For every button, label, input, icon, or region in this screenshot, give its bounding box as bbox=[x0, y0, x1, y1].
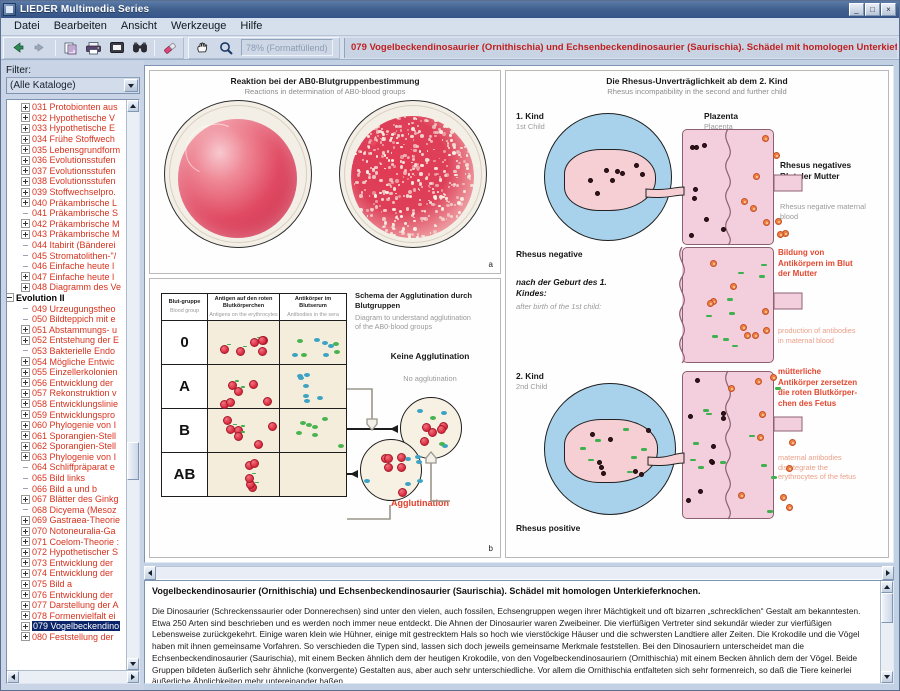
expand-icon[interactable] bbox=[21, 622, 30, 631]
erythrocyte-marker bbox=[250, 459, 259, 468]
maternal-erythrocyte bbox=[728, 385, 735, 392]
antibody-marker bbox=[323, 353, 329, 357]
tree-item-row[interactable]: 044 Itabirit (Bänderei bbox=[7, 240, 126, 251]
tree-item-row[interactable]: 075 Bild a bbox=[7, 579, 126, 590]
plate-canvas: Reaktion bei der AB0-Blutgruppenbestimmu… bbox=[145, 66, 893, 562]
expand-icon[interactable] bbox=[21, 410, 30, 419]
eraser-icon[interactable] bbox=[159, 38, 180, 57]
header-en: Antigens on the erythrocytes bbox=[209, 312, 277, 318]
tree-item-row[interactable]: 055 Einzellerkolonien bbox=[7, 367, 126, 378]
antibody-marker bbox=[364, 479, 370, 483]
tree-item-label: 057 Rekonstruktion v bbox=[32, 388, 117, 398]
leaf-icon bbox=[21, 251, 30, 260]
antigen-spike bbox=[255, 482, 259, 484]
antigen-cell bbox=[208, 453, 280, 496]
fetal-erythrocyte bbox=[692, 196, 697, 201]
toolbar-separator bbox=[55, 40, 56, 56]
tree-item-row[interactable]: 067 Blätter des Ginkg bbox=[7, 494, 126, 505]
application-window: LIEDER Multimedia Series _ □ × Datei Bea… bbox=[0, 0, 900, 691]
expand-icon[interactable] bbox=[21, 548, 30, 557]
expand-icon[interactable] bbox=[21, 283, 30, 292]
fetal-erythrocyte bbox=[610, 178, 615, 183]
forward-arrow-icon[interactable] bbox=[30, 38, 51, 57]
tree-item-row[interactable]: 052 Entstehung der E bbox=[7, 335, 126, 346]
tree-item-label: 075 Bild a bbox=[32, 579, 72, 589]
tree-item-row[interactable]: 050 Bildteppich mit e bbox=[7, 314, 126, 325]
expand-icon[interactable] bbox=[21, 368, 30, 377]
expand-icon[interactable] bbox=[21, 495, 30, 504]
tree-item-row[interactable]: 047 Einfache heute l bbox=[7, 272, 126, 283]
antibody-marker bbox=[296, 431, 302, 435]
tree-item-row[interactable]: 056 Entwicklung der bbox=[7, 377, 126, 388]
expand-icon[interactable] bbox=[21, 336, 30, 345]
maternal-erythrocyte bbox=[710, 260, 717, 267]
leaf-icon bbox=[21, 484, 30, 493]
tree-item-row[interactable]: 054 Mögliche Entwic bbox=[7, 356, 126, 367]
expand-icon[interactable] bbox=[21, 452, 30, 461]
tree-horizontal-scrollbar[interactable] bbox=[7, 670, 139, 683]
filter-label: Filter: bbox=[6, 65, 140, 76]
antibody-marker bbox=[303, 394, 309, 398]
tree-item-label: 073 Entwicklung der bbox=[32, 558, 113, 568]
maternal-antibody bbox=[738, 272, 744, 275]
erythrocyte-marker bbox=[397, 463, 406, 472]
main-column: Reaktion bei der AB0-Blutgruppenbestimmu… bbox=[144, 61, 899, 690]
maternal-antibody bbox=[690, 459, 696, 462]
tree-item-label: 034 Frühe Stoffwech bbox=[32, 134, 115, 144]
image-viewer-pane[interactable]: Reaktion bei der AB0-Blutgruppenbestimmu… bbox=[144, 65, 894, 563]
scroll-track[interactable] bbox=[127, 112, 139, 658]
tree-item-row[interactable]: 032 Hypothetische V bbox=[7, 113, 126, 124]
header-de: Antikörper im Blutserum bbox=[281, 296, 345, 310]
antibody-marker bbox=[338, 444, 344, 448]
tree-item-row[interactable]: 039 Stoffwechselpro. bbox=[7, 187, 126, 198]
scroll-track[interactable] bbox=[881, 593, 893, 671]
antibody-cell bbox=[280, 453, 346, 496]
close-button[interactable]: × bbox=[881, 3, 896, 16]
erythrocyte-marker bbox=[398, 488, 407, 497]
expand-icon[interactable] bbox=[21, 272, 30, 281]
header-antibodies: Antikörper im Blutserum Antibodies in th… bbox=[280, 294, 346, 320]
fetal-erythrocyte bbox=[588, 178, 593, 183]
antigen-spike bbox=[241, 386, 245, 388]
leaf-icon bbox=[21, 304, 30, 313]
maternal-erythrocyte bbox=[775, 218, 782, 225]
maternal-erythrocyte bbox=[763, 327, 770, 334]
menu-bearbeiten[interactable]: Bearbeiten bbox=[47, 19, 114, 34]
expand-icon[interactable] bbox=[21, 590, 30, 599]
maternal-erythrocyte bbox=[707, 300, 714, 307]
expand-icon[interactable] bbox=[21, 378, 30, 387]
agglutination-title-de: Schema der Agglutination durch Blutgrupp… bbox=[355, 291, 475, 311]
tree-vertical-scrollbar[interactable] bbox=[126, 100, 139, 670]
tree-item-row[interactable]: 051 Abstammungs- u bbox=[7, 324, 126, 335]
antibody-marker bbox=[333, 342, 339, 346]
fetal-erythrocyte bbox=[646, 428, 651, 433]
tree-item-label: 065 Bild links bbox=[32, 473, 85, 483]
tree-item-label: 036 Evolutionsstufen bbox=[32, 155, 116, 165]
printer-icon[interactable] bbox=[83, 38, 104, 57]
scroll-thumb[interactable] bbox=[127, 442, 139, 480]
expand-icon[interactable] bbox=[21, 389, 30, 398]
antibody-marker bbox=[416, 460, 422, 464]
scroll-down-button[interactable] bbox=[127, 658, 139, 670]
tree-item-label: 068 Dicyema (Mesoz bbox=[32, 505, 117, 515]
scroll-up-button[interactable] bbox=[127, 100, 139, 112]
title-bar: LIEDER Multimedia Series _ □ × bbox=[1, 1, 899, 18]
tree-item-row[interactable]: 074 Entwicklung der bbox=[7, 568, 126, 579]
toolbar-group-navigation bbox=[3, 37, 184, 59]
chevron-down-icon[interactable] bbox=[124, 79, 138, 92]
tree-item-row[interactable]: 059 Entwicklungspro bbox=[7, 409, 126, 420]
antibody-marker bbox=[430, 416, 436, 420]
tree-item-label: 054 Mögliche Entwic bbox=[32, 357, 115, 367]
tree-item-row[interactable]: 076 Entwicklung der bbox=[7, 589, 126, 600]
figure-letter-a: a bbox=[489, 260, 493, 269]
expand-icon[interactable] bbox=[21, 145, 30, 154]
minimize-button[interactable]: _ bbox=[849, 3, 864, 16]
antibody-marker bbox=[304, 373, 310, 377]
tree-item-row[interactable]: 063 Phylogenie von I bbox=[7, 452, 126, 463]
expand-icon[interactable] bbox=[21, 188, 30, 197]
erythrocyte-marker bbox=[234, 387, 243, 396]
expand-icon[interactable] bbox=[21, 442, 30, 451]
tree-item-label: Evolution II bbox=[16, 293, 65, 303]
magnifier-icon[interactable] bbox=[215, 38, 236, 57]
tree-item-label: 032 Hypothetische V bbox=[32, 113, 115, 123]
sidebar: Filter: (Alle Kataloge) 031 Protobionten… bbox=[1, 61, 144, 690]
tree-group-row[interactable]: Evolution II bbox=[7, 293, 126, 304]
abo-title-en: Reactions in determination of AB0-blood … bbox=[150, 87, 500, 96]
leaf-icon bbox=[21, 315, 30, 324]
petri-dish-agglutination bbox=[339, 100, 487, 248]
tree-item-label: 052 Entstehung der E bbox=[32, 335, 119, 345]
erythrocyte-marker bbox=[249, 380, 258, 389]
erythrocyte-marker bbox=[263, 397, 272, 406]
antibody-marker bbox=[317, 396, 323, 400]
figure-letter-b: b bbox=[489, 544, 493, 553]
header-en: Blood group bbox=[170, 308, 199, 314]
scroll-up-button[interactable] bbox=[881, 581, 893, 593]
tree-item-row[interactable]: 065 Bild links bbox=[7, 473, 126, 484]
no-agglutination-label-de: Keine Agglutination bbox=[382, 351, 478, 362]
tree-item-row[interactable]: 034 Frühe Stoffwech bbox=[7, 134, 126, 145]
table-row: 0 bbox=[162, 321, 346, 365]
tree-item-row[interactable]: 046 Einfache heute l bbox=[7, 261, 126, 272]
maternal-erythrocyte bbox=[763, 219, 770, 226]
antibody-marker bbox=[441, 411, 447, 415]
tree-item-row[interactable]: 061 Sporangien-Stell bbox=[7, 430, 126, 441]
expand-icon[interactable] bbox=[21, 166, 30, 175]
maternal-erythrocyte bbox=[780, 494, 787, 501]
petri-dish-no-agglutination bbox=[164, 100, 312, 248]
tree-item-label: 078 Formenvielfalt ei bbox=[32, 611, 116, 621]
antigen-cell bbox=[208, 321, 280, 364]
tree-item-row[interactable]: 042 Präkambrische M bbox=[7, 219, 126, 230]
maternal-antibody bbox=[771, 476, 777, 479]
tree-item-label: 074 Entwicklung der bbox=[32, 568, 113, 578]
erythrocyte-marker bbox=[223, 416, 232, 425]
tree-item-row[interactable]: 038 Evolutionsstufen bbox=[7, 176, 126, 187]
tree-item-label: 059 Entwicklungspro bbox=[32, 410, 115, 420]
text-scroll-right-button[interactable] bbox=[882, 566, 894, 580]
current-item-title: 079 Vogelbeckendinosaurier (Ornithischia… bbox=[344, 38, 897, 58]
expand-icon[interactable] bbox=[21, 580, 30, 589]
blood-group-label: AB bbox=[174, 466, 196, 483]
app-window-icon bbox=[3, 3, 16, 16]
erythrocyte-marker bbox=[236, 347, 245, 356]
antigen-cell bbox=[208, 409, 280, 452]
antibody-marker bbox=[314, 338, 320, 342]
tree-item-row[interactable]: 037 Evolutionsstufen bbox=[7, 166, 126, 177]
erythrocyte-marker bbox=[220, 345, 229, 354]
fetal-erythrocyte bbox=[690, 145, 695, 150]
tree-item-row[interactable]: 077 Darstellung der A bbox=[7, 600, 126, 611]
tree-item-row[interactable]: 045 Stromatolithen-"/ bbox=[7, 250, 126, 261]
menu-werkzeuge[interactable]: Werkzeuge bbox=[164, 19, 233, 34]
tree-item-row[interactable]: 073 Entwicklung der bbox=[7, 558, 126, 569]
tree-item-label: 053 Bakterielle Endo bbox=[32, 346, 115, 356]
maternal-antibody bbox=[693, 442, 699, 445]
tree-item-row[interactable]: 057 Rekonstruktion v bbox=[7, 388, 126, 399]
fetal-erythrocyte bbox=[595, 191, 600, 196]
fetal-erythrocyte bbox=[702, 143, 707, 148]
expand-icon[interactable] bbox=[21, 516, 30, 525]
maternal-erythrocyte bbox=[741, 198, 748, 205]
erythrocyte-marker bbox=[234, 432, 243, 441]
tree-item-label: 076 Entwicklung der bbox=[32, 590, 113, 600]
antibody-marker bbox=[301, 353, 307, 357]
menu-bar: Datei Bearbeiten Ansicht Werkzeuge Hilfe bbox=[1, 18, 899, 36]
maternal-antibody bbox=[759, 275, 765, 278]
antibody-marker bbox=[417, 479, 423, 483]
tree-item-row[interactable]: 069 Gastraea-Theorie bbox=[7, 515, 126, 526]
abo-title-de: Reaktion bei der AB0-Blutgruppenbestimmu… bbox=[150, 76, 500, 86]
antibody-marker bbox=[322, 417, 328, 421]
tree-item-label: 066 Bild a und b bbox=[32, 484, 97, 494]
maternal-antibody bbox=[703, 409, 709, 412]
antibody-marker bbox=[292, 353, 298, 357]
tree-item-row[interactable]: 071 Coelom-Theorie : bbox=[7, 536, 126, 547]
menu-ansicht[interactable]: Ansicht bbox=[114, 19, 164, 34]
expand-icon[interactable] bbox=[21, 611, 30, 620]
tree-item-row[interactable]: 062 Sporangien-Stell bbox=[7, 441, 126, 452]
scroll-left-button[interactable] bbox=[7, 671, 19, 683]
no-agglutination-label-en: No agglutination bbox=[382, 374, 478, 383]
maternal-erythrocyte bbox=[757, 434, 764, 441]
antigen-cell bbox=[208, 365, 280, 408]
screen-icon[interactable] bbox=[106, 38, 127, 57]
expand-icon[interactable] bbox=[21, 601, 30, 610]
antigen-spike bbox=[252, 473, 256, 475]
blood-group-label: A bbox=[179, 378, 190, 395]
antibody-marker bbox=[405, 457, 411, 461]
expand-icon[interactable] bbox=[21, 431, 30, 440]
fetal-erythrocyte bbox=[695, 378, 700, 383]
erythrocyte-marker bbox=[420, 437, 429, 446]
antibody-marker bbox=[304, 399, 310, 403]
tree-item-row[interactable]: 033 Hypothetische E bbox=[7, 123, 126, 134]
maternal-antibody bbox=[595, 439, 601, 442]
petri-dish-row bbox=[150, 100, 500, 248]
tree-item-row[interactable]: 031 Protobionten aus bbox=[7, 102, 126, 113]
maternal-erythrocyte bbox=[738, 492, 745, 499]
zoom-level-field[interactable]: 78% (Formatfüllend) bbox=[241, 39, 333, 56]
tree-item-label: 079 Vogelbeckendino bbox=[32, 621, 120, 631]
tree-item-row[interactable]: 068 Dicyema (Mesoz bbox=[7, 505, 126, 516]
catalog-filter-dropdown[interactable]: (Alle Kataloge) bbox=[6, 77, 140, 94]
expand-icon[interactable] bbox=[21, 357, 30, 366]
tree-item-label: 050 Bildteppich mit e bbox=[32, 314, 116, 324]
header-de: Antigen auf den roten Blutkörperchen bbox=[209, 296, 278, 310]
tree-item-label: 064 Schliffpräparat e bbox=[32, 462, 115, 472]
antigen-spike bbox=[233, 424, 237, 426]
leaf-icon bbox=[21, 209, 30, 218]
maternal-erythrocyte bbox=[753, 173, 760, 180]
table-row: AB bbox=[162, 453, 346, 496]
tree-item-row[interactable]: 041 Präkambrische S bbox=[7, 208, 126, 219]
tree-item-row[interactable]: 043 Präkambrische M bbox=[7, 229, 126, 240]
binoculars-icon[interactable] bbox=[129, 38, 150, 57]
scroll-right-button[interactable] bbox=[127, 671, 139, 683]
tree-item-row[interactable]: 053 Bakterielle Endo bbox=[7, 346, 126, 357]
tree-item-label: 072 Hypothetischer S bbox=[32, 547, 118, 557]
maternal-antibody bbox=[767, 510, 773, 513]
tree-item-label: 048 Diagramm des Ve bbox=[32, 282, 121, 292]
tree-item-label: 041 Präkambrische S bbox=[32, 208, 118, 218]
expand-icon[interactable] bbox=[21, 527, 30, 536]
figure-abo-reaction: Reaktion bei der AB0-Blutgruppenbestimmu… bbox=[149, 70, 501, 274]
tree-item-row[interactable]: 058 Entwicklungslinie bbox=[7, 399, 126, 410]
tree-item-label: 044 Itabirit (Bänderei bbox=[32, 240, 116, 250]
table-row: B bbox=[162, 409, 346, 453]
catalog-tree[interactable]: 031 Protobionten aus032 Hypothetische V0… bbox=[7, 100, 126, 670]
antibody-marker bbox=[303, 384, 309, 388]
description-vertical-scrollbar[interactable] bbox=[880, 581, 893, 683]
tree-item-row[interactable]: 070 Notoneuralia-Ga bbox=[7, 526, 126, 537]
maternal-antibody bbox=[761, 464, 767, 467]
placenta-middle-edge bbox=[506, 71, 888, 557]
expand-icon[interactable] bbox=[21, 569, 30, 578]
maternal-antibody bbox=[732, 345, 738, 348]
text-scroll-track[interactable] bbox=[156, 566, 882, 580]
catalog-filter-value: (Alle Kataloge) bbox=[10, 80, 76, 91]
collapse-icon[interactable] bbox=[7, 293, 14, 302]
tree-item-row[interactable]: 080 Feststellung der bbox=[7, 632, 126, 643]
tree-item-row[interactable]: 036 Evolutionsstufen bbox=[7, 155, 126, 166]
maternal-erythrocyte bbox=[750, 205, 757, 212]
expand-icon[interactable] bbox=[21, 135, 30, 144]
figure-agglutination-scheme: Blut-gruppe Blood group Antigen auf den … bbox=[149, 278, 501, 558]
maternal-antibody bbox=[588, 459, 594, 462]
antibody-marker bbox=[300, 421, 306, 425]
tree-item-row[interactable]: 060 Phylogenie von I bbox=[7, 420, 126, 431]
window-title: LIEDER Multimedia Series bbox=[20, 4, 149, 15]
toolbar-separator-2 bbox=[154, 40, 155, 56]
expand-icon[interactable] bbox=[21, 177, 30, 186]
menu-datei[interactable]: Datei bbox=[7, 19, 47, 34]
expand-icon[interactable] bbox=[21, 198, 30, 207]
leaf-icon bbox=[21, 474, 30, 483]
maternal-antibody bbox=[580, 447, 586, 450]
tree-item-row[interactable]: 049 Urzeugungstheo bbox=[7, 303, 126, 314]
antibody-marker bbox=[334, 350, 340, 354]
expand-icon[interactable] bbox=[21, 124, 30, 133]
maternal-antibody bbox=[723, 338, 729, 341]
tree-item-row[interactable]: 079 Vogelbeckendino bbox=[7, 621, 126, 632]
maternal-erythrocyte bbox=[786, 465, 793, 472]
expand-icon[interactable] bbox=[21, 421, 30, 430]
expand-icon[interactable] bbox=[21, 399, 30, 408]
back-arrow-icon[interactable] bbox=[7, 38, 28, 57]
agglutination-title-en: Diagram to understand agglutination of t… bbox=[355, 313, 475, 332]
copy-icon[interactable] bbox=[60, 38, 81, 57]
maternal-antibody bbox=[727, 298, 733, 301]
tree-item-label: 063 Phylogenie von I bbox=[32, 452, 116, 462]
tree-item-label: 037 Evolutionsstufen bbox=[32, 166, 116, 176]
tree-item-row[interactable]: 078 Formenvielfalt ei bbox=[7, 611, 126, 622]
expand-icon[interactable] bbox=[21, 325, 30, 334]
tree-item-label: 077 Darstellung der A bbox=[32, 600, 119, 610]
menu-hilfe[interactable]: Hilfe bbox=[233, 19, 269, 34]
erythrocyte-marker bbox=[258, 347, 267, 356]
tree-item-label: 056 Entwicklung der bbox=[32, 378, 113, 388]
tree-item-label: 033 Hypothetische E bbox=[32, 123, 115, 133]
toolbar: 78% (Formatfüllend) 079 Vogelbeckendinos… bbox=[1, 36, 899, 60]
expand-icon[interactable] bbox=[21, 219, 30, 228]
expand-icon[interactable] bbox=[21, 113, 30, 122]
expand-icon[interactable] bbox=[21, 537, 30, 546]
tree-item-label: 047 Einfache heute l bbox=[32, 272, 114, 282]
text-scroll-left-button[interactable] bbox=[144, 566, 156, 580]
expand-icon[interactable] bbox=[21, 632, 30, 641]
antibody-marker bbox=[312, 433, 318, 437]
erythrocyte-marker bbox=[226, 398, 235, 407]
expand-icon[interactable] bbox=[21, 103, 30, 112]
fetal-erythrocyte bbox=[698, 489, 703, 494]
header-en: Antibodies in the sera bbox=[287, 312, 339, 318]
text-pane-scrollbar[interactable] bbox=[144, 566, 894, 580]
scroll-down-button[interactable] bbox=[881, 671, 893, 683]
header-antigens: Antigen auf den roten Blutkörperchen Ant… bbox=[208, 294, 280, 320]
tree-item-row[interactable]: 040 Präkambrische L bbox=[7, 197, 126, 208]
maximize-button[interactable]: □ bbox=[865, 3, 880, 16]
description-heading: Vogelbeckendinosaurier (Ornithischia) un… bbox=[152, 586, 874, 597]
tree-item-row[interactable]: 048 Diagramm des Ve bbox=[7, 282, 126, 293]
tree-item-label: 069 Gastraea-Theorie bbox=[32, 515, 120, 525]
hscroll-track[interactable] bbox=[19, 671, 127, 683]
scroll-thumb[interactable] bbox=[881, 593, 893, 623]
left-figure-column: Reaktion bei der AB0-Blutgruppenbestimmu… bbox=[149, 70, 501, 558]
expand-icon[interactable] bbox=[21, 156, 30, 165]
hand-icon[interactable] bbox=[192, 38, 213, 57]
expand-icon[interactable] bbox=[21, 230, 30, 239]
blood-group-label: 0 bbox=[180, 334, 188, 351]
expand-icon[interactable] bbox=[21, 558, 30, 567]
tree-item-row[interactable]: 072 Hypothetischer S bbox=[7, 547, 126, 558]
antibody-marker bbox=[417, 409, 423, 413]
tree-item-row[interactable]: 035 Lebensgrundform bbox=[7, 144, 126, 155]
erythrocyte-marker bbox=[437, 425, 446, 434]
tree-item-label: 043 Präkambrische M bbox=[32, 229, 120, 239]
tree-item-row[interactable]: 064 Schliffpräparat e bbox=[7, 462, 126, 473]
tree-item-label: 067 Blätter des Ginkg bbox=[32, 494, 119, 504]
leaf-icon bbox=[21, 505, 30, 514]
tree-item-label: 055 Einzellerkolonien bbox=[32, 367, 118, 377]
description-pane[interactable]: Vogelbeckendinosaurier (Ornithischia) un… bbox=[144, 580, 894, 684]
tree-item-row[interactable]: 066 Bild a und b bbox=[7, 483, 126, 494]
antigen-spike bbox=[241, 425, 245, 427]
